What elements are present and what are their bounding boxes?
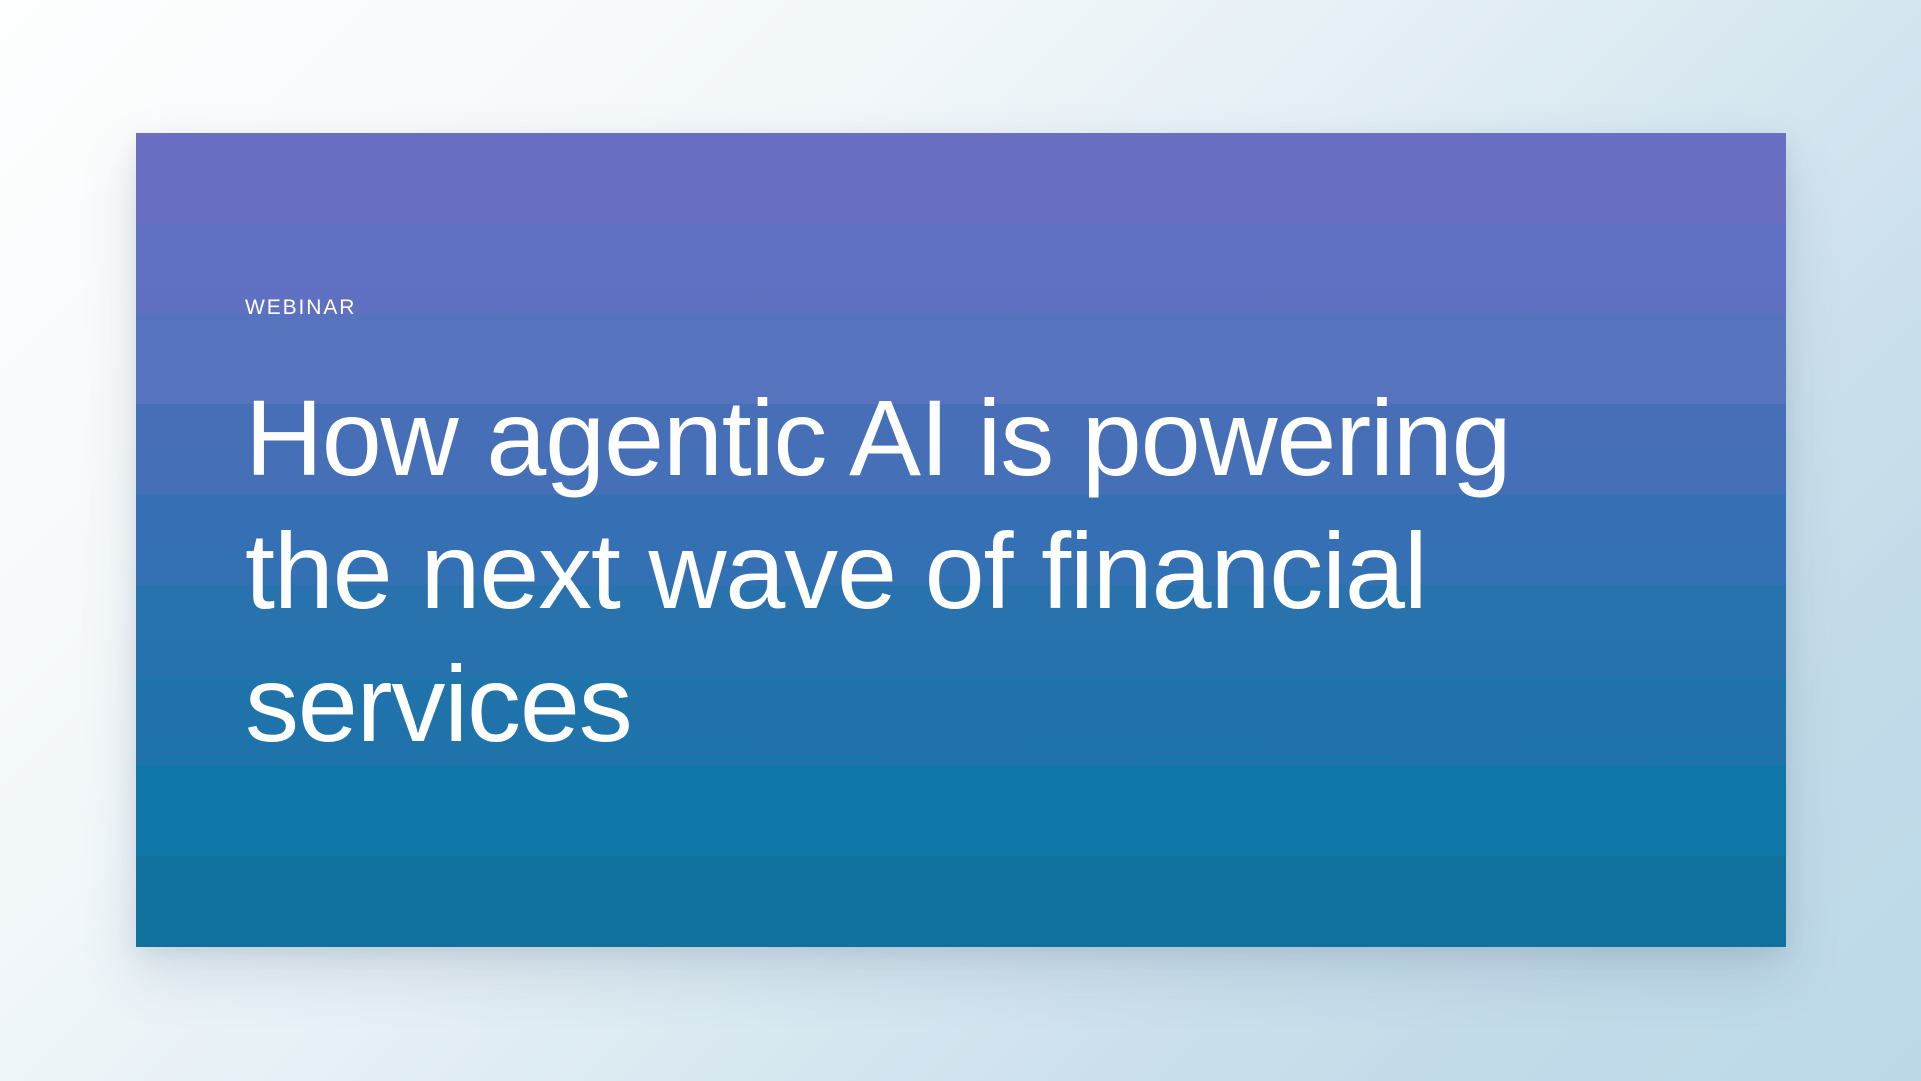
page-title: How agentic AI is powering the next wave… [245, 371, 1511, 770]
headline-line-3: services [245, 637, 1511, 770]
headline-line-1: How agentic AI is powering [245, 371, 1511, 504]
hero-content: WEBINAR How agentic AI is powering the n… [245, 133, 1746, 947]
hero-banner-screenshot: WEBINAR How agentic AI is powering the n… [0, 0, 1921, 1081]
hero-card[interactable]: WEBINAR How agentic AI is powering the n… [136, 133, 1786, 947]
headline-line-2: the next wave of financial [245, 504, 1511, 637]
eyebrow-label: WEBINAR [245, 297, 356, 318]
